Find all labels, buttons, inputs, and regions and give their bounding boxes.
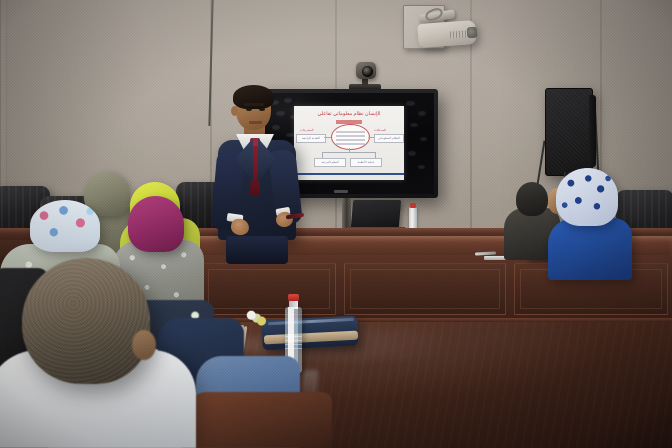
slide-bottom-right-box: عملية الأنظمة: [350, 158, 382, 167]
slide-oval-header: [336, 120, 362, 124]
slide-right-label: المدخلات: [374, 128, 386, 132]
attendee-patterned-hijab: [30, 200, 100, 252]
bottle-cap: [410, 203, 416, 208]
tv-brand-mark: [334, 190, 348, 193]
presenter-eye: [259, 108, 265, 111]
table-flower-arrangement: [256, 316, 267, 326]
presenter-ear: [231, 106, 238, 116]
slide-right-box: النظام المعلوماتي: [374, 134, 404, 143]
bottle-neck: [289, 300, 298, 309]
wooden-chair-arm[interactable]: [182, 392, 332, 448]
presenter-trousers: [226, 236, 288, 264]
speaker-side-panel: [589, 95, 596, 167]
slide-bottom-left-box: النظم الفرعية: [314, 158, 346, 167]
presenter-mouth: [249, 121, 262, 124]
projector-lens: [467, 27, 478, 39]
camera-lens-icon: [362, 66, 373, 77]
attendee-blue-top: [548, 218, 632, 280]
attendee-magenta-hijab: [128, 196, 184, 252]
attendee-foreground-head: [22, 258, 150, 384]
attendee-blue-floral-hijab: [556, 168, 618, 226]
slide-center-oval: [331, 124, 370, 150]
conference-room-photo: الإنسان نظام معلوماتي تفاعلي المخرجات ال…: [0, 0, 672, 448]
presenter-laptop[interactable]: [351, 200, 401, 228]
attendee-head: [516, 182, 548, 216]
bottle-cap: [288, 294, 299, 301]
presenter-standing: [206, 88, 312, 263]
projector-vent: [450, 30, 467, 38]
bottle-ribbing: [285, 336, 302, 349]
presenter-eye: [246, 108, 252, 111]
attendee-foreground-ear: [132, 330, 156, 360]
pa-speaker-on-stand: [545, 88, 593, 176]
presenter-eyebrow: [244, 103, 264, 106]
